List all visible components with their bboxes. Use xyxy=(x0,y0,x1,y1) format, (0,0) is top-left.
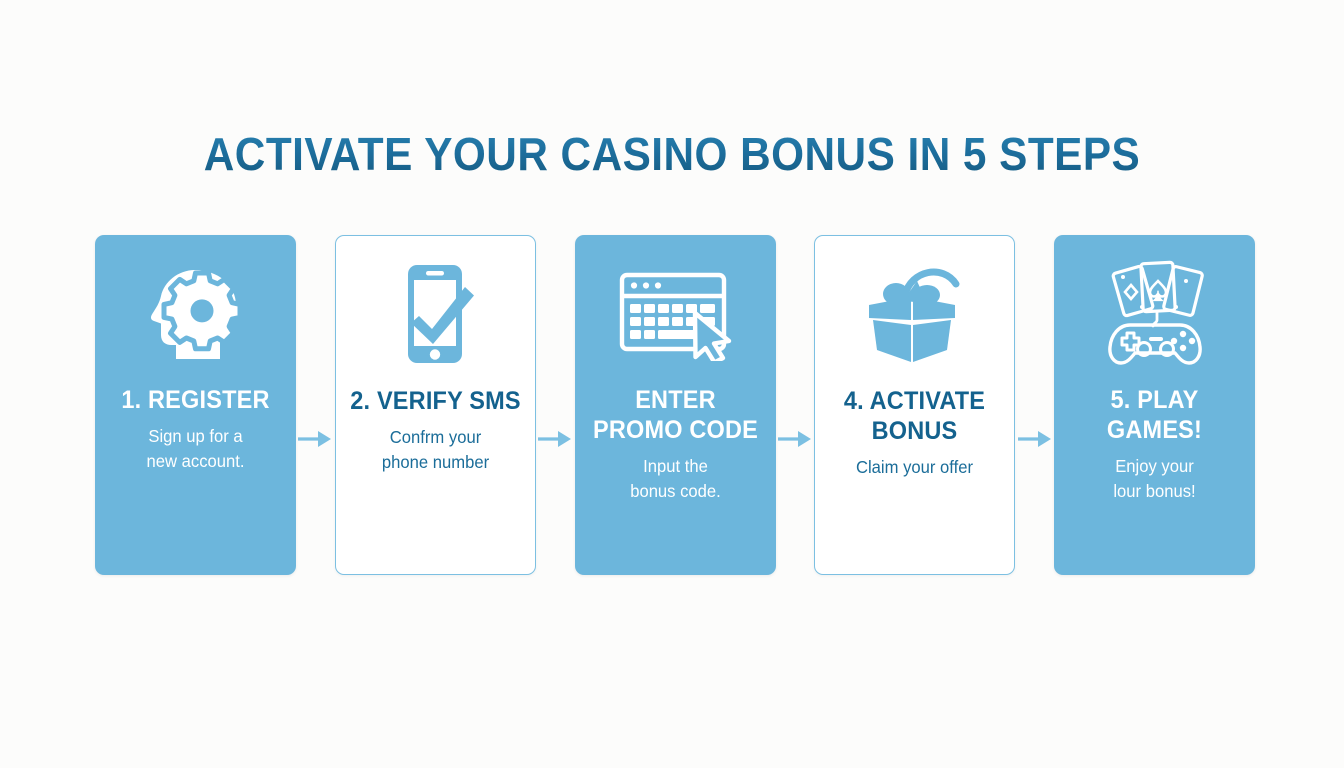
step-heading: 2. VERIFY SMS xyxy=(349,386,521,416)
arrow-right-icon xyxy=(776,269,815,609)
step-card-verify-sms[interactable]: 2. VERIFY SMS Confrm your phone number xyxy=(335,235,536,575)
step-heading: 4. ACTIVATE BONUS xyxy=(829,386,1001,446)
step-card-activate-bonus[interactable]: 4. ACTIVATE BONUS Claim your offer xyxy=(814,235,1015,575)
arrow-right-icon xyxy=(296,269,335,609)
keyboard-cursor-icon xyxy=(575,235,776,385)
gift-box-arrow-icon xyxy=(815,236,1014,386)
head-gear-icon xyxy=(95,235,296,385)
step-card-play-games[interactable]: 5. PLAY GAMES! Enjoy your lour bonus! xyxy=(1054,235,1255,575)
step-heading: 1. REGISTER xyxy=(109,385,283,415)
step-card-text: 1. REGISTER Sign up for a new account. xyxy=(95,385,296,474)
step-subtitle: Enjoy your lour bonus! xyxy=(1067,454,1243,504)
phone-checkmark-icon xyxy=(336,236,535,386)
step-card-text: 2. VERIFY SMS Confrm your phone number xyxy=(336,386,535,475)
step-heading: ENTER PROMO CODE xyxy=(588,385,762,445)
step-card-enter-promo-code[interactable]: ENTER PROMO CODE Input the bonus code. xyxy=(575,235,776,575)
step-heading: 5. PLAY GAMES! xyxy=(1068,385,1242,445)
step-card-text: ENTER PROMO CODE Input the bonus code. xyxy=(575,385,776,504)
step-subtitle: Claim your offer xyxy=(828,455,1002,480)
step-subtitle: Input the bonus code. xyxy=(587,454,763,504)
step-subtitle: Confrm your phone number xyxy=(348,425,522,475)
step-subtitle: Sign up for a new account. xyxy=(108,424,284,474)
cards-gamepad-icon xyxy=(1054,235,1255,385)
steps-flow: 1. REGISTER Sign up for a new account. 2… xyxy=(95,235,1255,575)
page-title: ACTIVATE YOUR CASINO BONUS IN 5 STEPS xyxy=(54,126,1290,182)
arrow-right-icon xyxy=(536,269,575,609)
step-card-register[interactable]: 1. REGISTER Sign up for a new account. xyxy=(95,235,296,575)
step-card-text: 5. PLAY GAMES! Enjoy your lour bonus! xyxy=(1054,385,1255,504)
step-card-text: 4. ACTIVATE BONUS Claim your offer xyxy=(815,386,1014,480)
arrow-right-icon xyxy=(1015,269,1054,609)
